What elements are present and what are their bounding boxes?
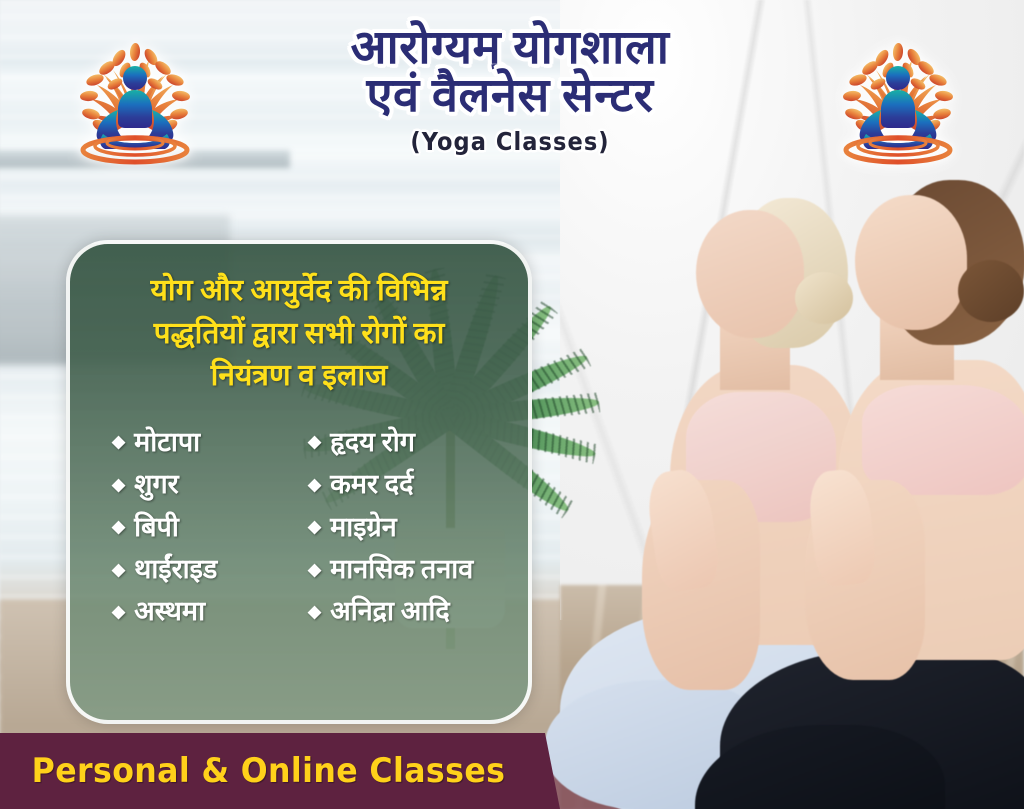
diamond-bullet-icon: ◆ <box>308 476 321 493</box>
panel-heading: योग और आयुर्वेद की विभिन्न पद्धतियों द्व… <box>86 270 512 398</box>
list-item-label: मोटापा <box>134 426 200 458</box>
yoga-practitioners-photo <box>600 180 1024 809</box>
page-subtitle: (Yoga Classes) <box>249 127 771 156</box>
diamond-bullet-icon: ◆ <box>112 603 125 620</box>
list-item-label: कमर दर्द <box>330 468 413 500</box>
diamond-bullet-icon: ◆ <box>308 518 321 535</box>
list-item-label: मानसिक तनाव <box>330 553 473 585</box>
conditions-list: ◆ मोटापा ◆ हृदय रोग ◆ शुगर ◆ कमर दर्द ◆ <box>86 426 512 628</box>
page-title-line-2: एवं वैलनेस सेन्टर <box>220 72 800 120</box>
poster-canvas: आरोग्यम् योगशाला एवं वैलनेस सेन्टर (Yoga… <box>0 0 1024 809</box>
diamond-bullet-icon: ◆ <box>112 433 125 450</box>
list-item: ◆ मोटापा <box>112 426 302 458</box>
list-item-label: हृदय रोग <box>330 426 415 458</box>
list-item: ◆ शुगर <box>112 468 302 500</box>
poster-header: आरोग्यम् योगशाला एवं वैलनेस सेन्टर (Yoga… <box>220 24 800 156</box>
diamond-bullet-icon: ◆ <box>308 561 321 578</box>
diamond-bullet-icon: ◆ <box>112 561 125 578</box>
panel-heading-line-3: नियंत्रण व इलाज <box>86 355 512 398</box>
panel-heading-line-1: योग और आयुर्वेद की विभिन्न <box>86 270 512 313</box>
list-item: ◆ बिपी <box>112 511 302 543</box>
diamond-bullet-icon: ◆ <box>308 433 321 450</box>
bottom-banner: Personal & Online Classes <box>0 733 560 809</box>
list-item-label: शुगर <box>134 468 179 500</box>
diamond-bullet-icon: ◆ <box>112 476 125 493</box>
list-item-label: थाईंराइड <box>134 553 217 585</box>
list-item: ◆ अनिद्रा आदि <box>308 595 498 627</box>
list-item: ◆ थाईंराइड <box>112 553 302 585</box>
page-title-line-1: आरोग्यम् योगशाला <box>220 24 800 72</box>
panel-heading-line-2: पद्धतियों द्वारा सभी रोगों का <box>86 313 512 356</box>
list-item-label: माइग्रेन <box>330 511 397 543</box>
list-item: ◆ माइग्रेन <box>308 511 498 543</box>
logo-right <box>818 22 978 172</box>
diamond-bullet-icon: ◆ <box>112 518 125 535</box>
list-item: ◆ अस्थमा <box>112 595 302 627</box>
list-item-label: अनिद्रा आदि <box>330 595 450 627</box>
list-item-label: अस्थमा <box>134 595 205 627</box>
list-item: ◆ हृदय रोग <box>308 426 498 458</box>
list-item-label: बिपी <box>134 511 179 543</box>
diamond-bullet-icon: ◆ <box>308 603 321 620</box>
logo-left <box>55 22 215 172</box>
list-item: ◆ मानसिक तनाव <box>308 553 498 585</box>
list-item: ◆ कमर दर्द <box>308 468 498 500</box>
meditating-figure-tree-icon <box>818 22 978 172</box>
bottom-banner-text: Personal & Online Classes <box>32 751 528 791</box>
services-panel: योग और आयुर्वेद की विभिन्न पद्धतियों द्व… <box>66 240 532 724</box>
meditating-figure-tree-icon <box>55 22 215 172</box>
